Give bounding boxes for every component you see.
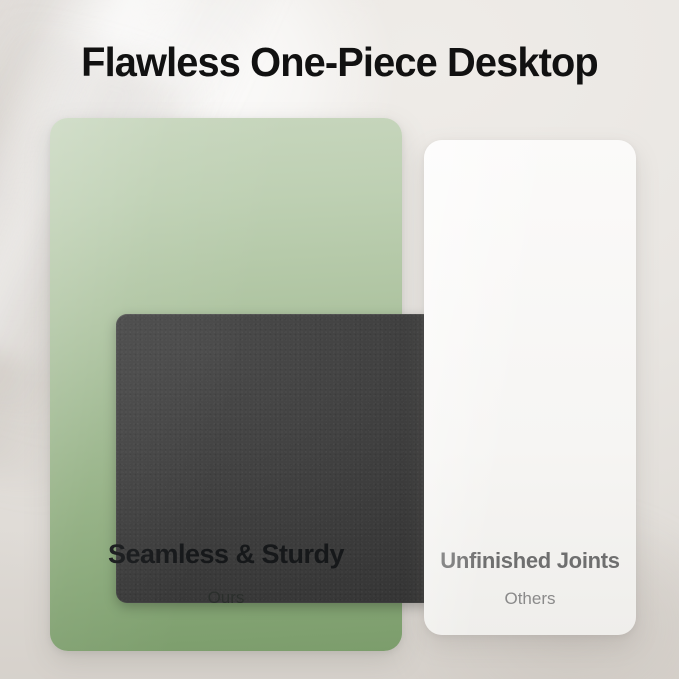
card-headline-others: Unfinished Joints [424, 548, 636, 574]
page-title: Flawless One-Piece Desktop [10, 37, 669, 87]
card-sublabel-others: Others [424, 589, 636, 609]
infographic-canvas: Flawless One-Piece Desktop Seamless & St… [0, 0, 679, 679]
card-sublabel-ours: Ours [50, 588, 402, 608]
comparison-card-ours: Seamless & Sturdy Ours [50, 118, 402, 651]
card-headline-ours: Seamless & Sturdy [50, 539, 402, 570]
comparison-card-others: Unfinished Joints Others [424, 140, 636, 635]
